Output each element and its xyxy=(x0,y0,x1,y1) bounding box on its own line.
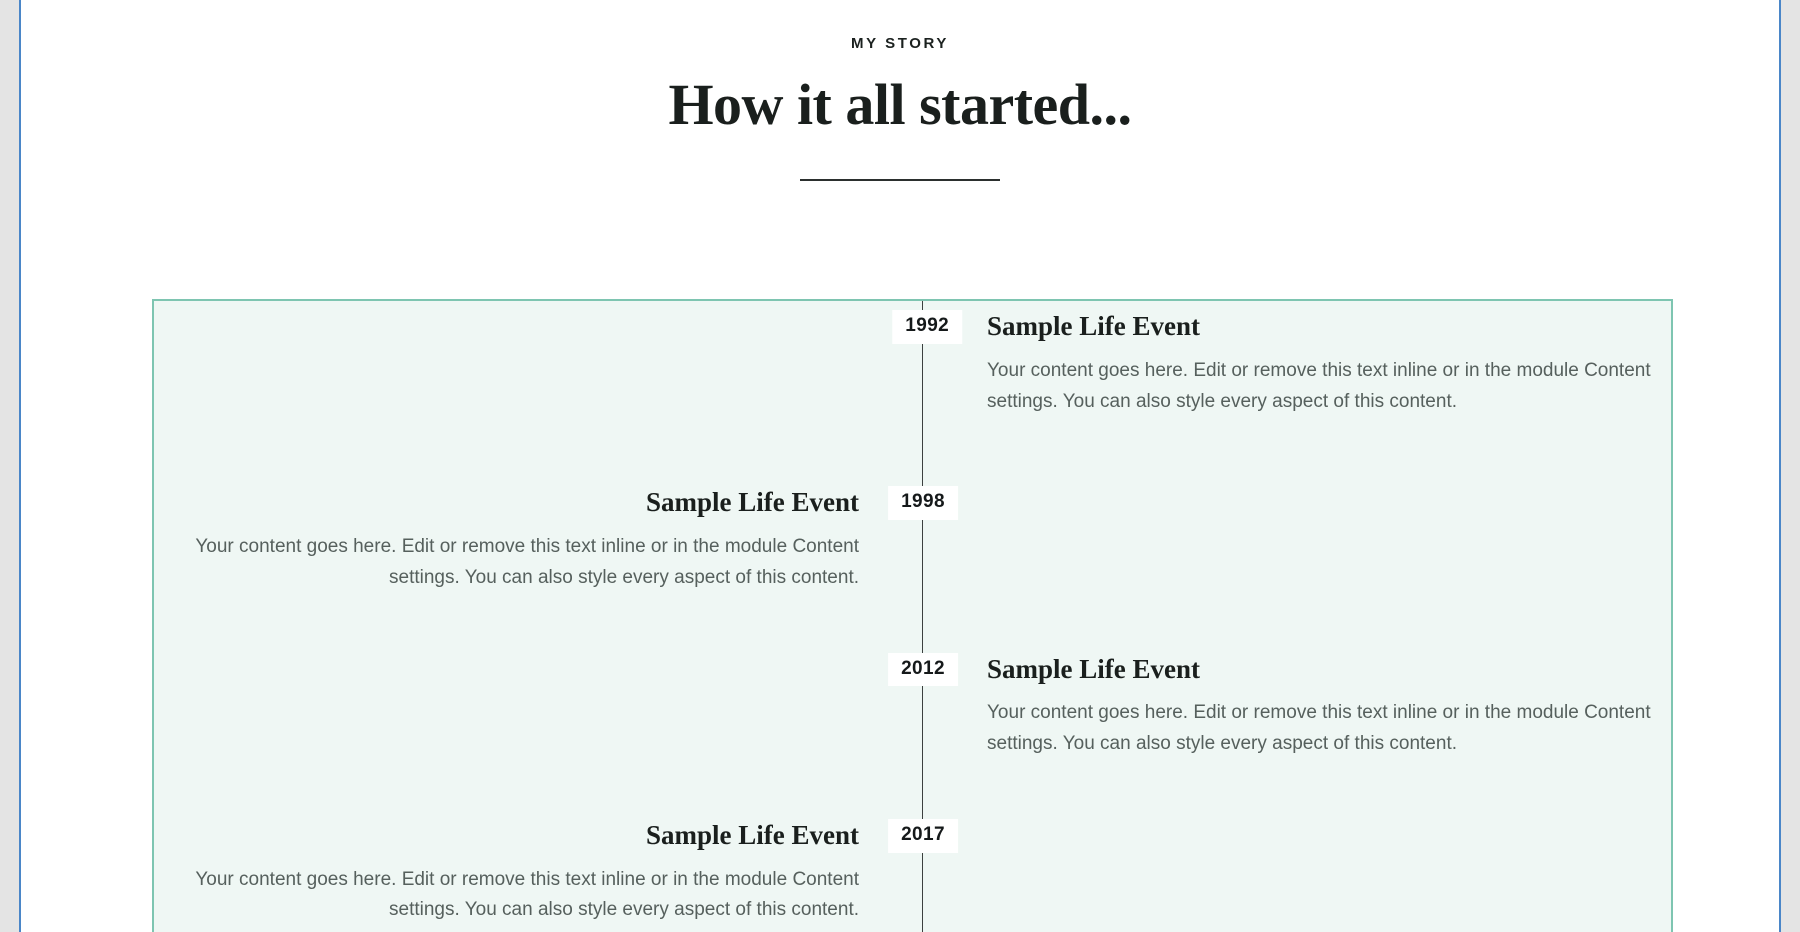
browser-viewport: MY STORY How it all started... 1992 Samp… xyxy=(19,0,1781,932)
timeline-entry: 2022 Were I am now xyxy=(154,926,1671,932)
timeline-year-badge[interactable]: 2012 xyxy=(888,653,958,687)
timeline-entry-empty-side xyxy=(923,486,1692,593)
timeline-container: 1992 Sample Life Event Your content goes… xyxy=(152,299,1673,932)
timeline-year-badge[interactable]: 1992 xyxy=(892,310,962,344)
timeline-entry-body: Your content goes here. Edit or remove t… xyxy=(179,865,859,927)
page-title: How it all started... xyxy=(21,73,1779,138)
timeline-entry-body: Your content goes here. Edit or remove t… xyxy=(987,356,1667,418)
timeline-entry-body: Your content goes here. Edit or remove t… xyxy=(179,532,859,594)
timeline-entry-title: Sample Life Event xyxy=(154,486,859,520)
timeline-entry-content: Sample Life Event Your content goes here… xyxy=(154,819,923,926)
timeline-entry-empty-side xyxy=(154,653,923,760)
page-header: MY STORY How it all started... xyxy=(21,0,1779,181)
title-divider-icon xyxy=(800,179,1000,181)
timeline-year-badge[interactable]: 2017 xyxy=(888,819,958,853)
timeline-entry-content: Sample Life Event Your content goes here… xyxy=(923,310,1692,417)
timeline-entry-title: Sample Life Event xyxy=(987,310,1692,344)
timeline-year-badge[interactable]: 1998 xyxy=(888,486,958,520)
timeline-entry: 1998 Sample Life Event Your content goes… xyxy=(154,417,1671,593)
eyebrow-label: MY STORY xyxy=(21,33,1779,54)
timeline-entry: 2012 Sample Life Event Your content goes… xyxy=(154,594,1671,760)
timeline-entry-body: Your content goes here. Edit or remove t… xyxy=(987,698,1667,760)
timeline-entry-empty-side xyxy=(923,819,1692,926)
timeline-entry-title: Sample Life Event xyxy=(154,819,859,853)
page-canvas: MY STORY How it all started... 1992 Samp… xyxy=(21,0,1779,932)
timeline-entry: 2017 Sample Life Event Your content goes… xyxy=(154,760,1671,926)
timeline-entry-empty-side xyxy=(154,310,923,417)
timeline-entry-content: Sample Life Event Your content goes here… xyxy=(923,653,1692,760)
timeline-entry-content: Sample Life Event Your content goes here… xyxy=(154,486,923,593)
timeline-entry: 1992 Sample Life Event Your content goes… xyxy=(154,301,1671,417)
timeline-rows: 1992 Sample Life Event Your content goes… xyxy=(154,301,1671,932)
timeline-entry-title: Sample Life Event xyxy=(987,653,1692,687)
